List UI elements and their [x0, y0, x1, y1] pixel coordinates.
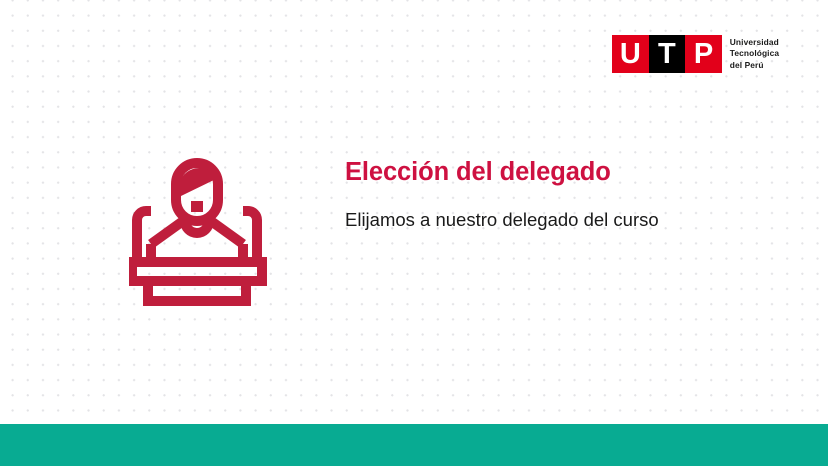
speaker-face-mark	[191, 201, 203, 212]
utp-logo-wordmark-line-2: Tecnológica	[730, 48, 779, 60]
page-title: Elección del delegado	[345, 157, 745, 187]
speaker-podium-icon	[129, 158, 281, 306]
utp-logo-wordmark-line-1: Universidad	[730, 37, 779, 49]
slide-canvas: U T P Universidad Tecnológica del Perú	[0, 0, 828, 466]
slide-text-block: Elección del delegado Elijamos a nuestro…	[345, 157, 745, 235]
footer-accent-bar	[0, 424, 828, 466]
utp-logo-letter-u: U	[612, 35, 649, 73]
page-subtitle: Elijamos a nuestro delegado del curso	[345, 187, 697, 235]
utp-logo-letter-p: P	[685, 35, 722, 73]
speaker-podium-icon-svg	[129, 158, 281, 306]
utp-logo-wordmark: Universidad Tecnológica del Perú	[730, 35, 779, 73]
utp-logo-letter-t: T	[649, 35, 686, 73]
utp-logo-mark: U T P	[612, 35, 722, 73]
utp-logo-wordmark-line-3: del Perú	[730, 60, 779, 72]
utp-logo: U T P Universidad Tecnológica del Perú	[612, 35, 779, 73]
